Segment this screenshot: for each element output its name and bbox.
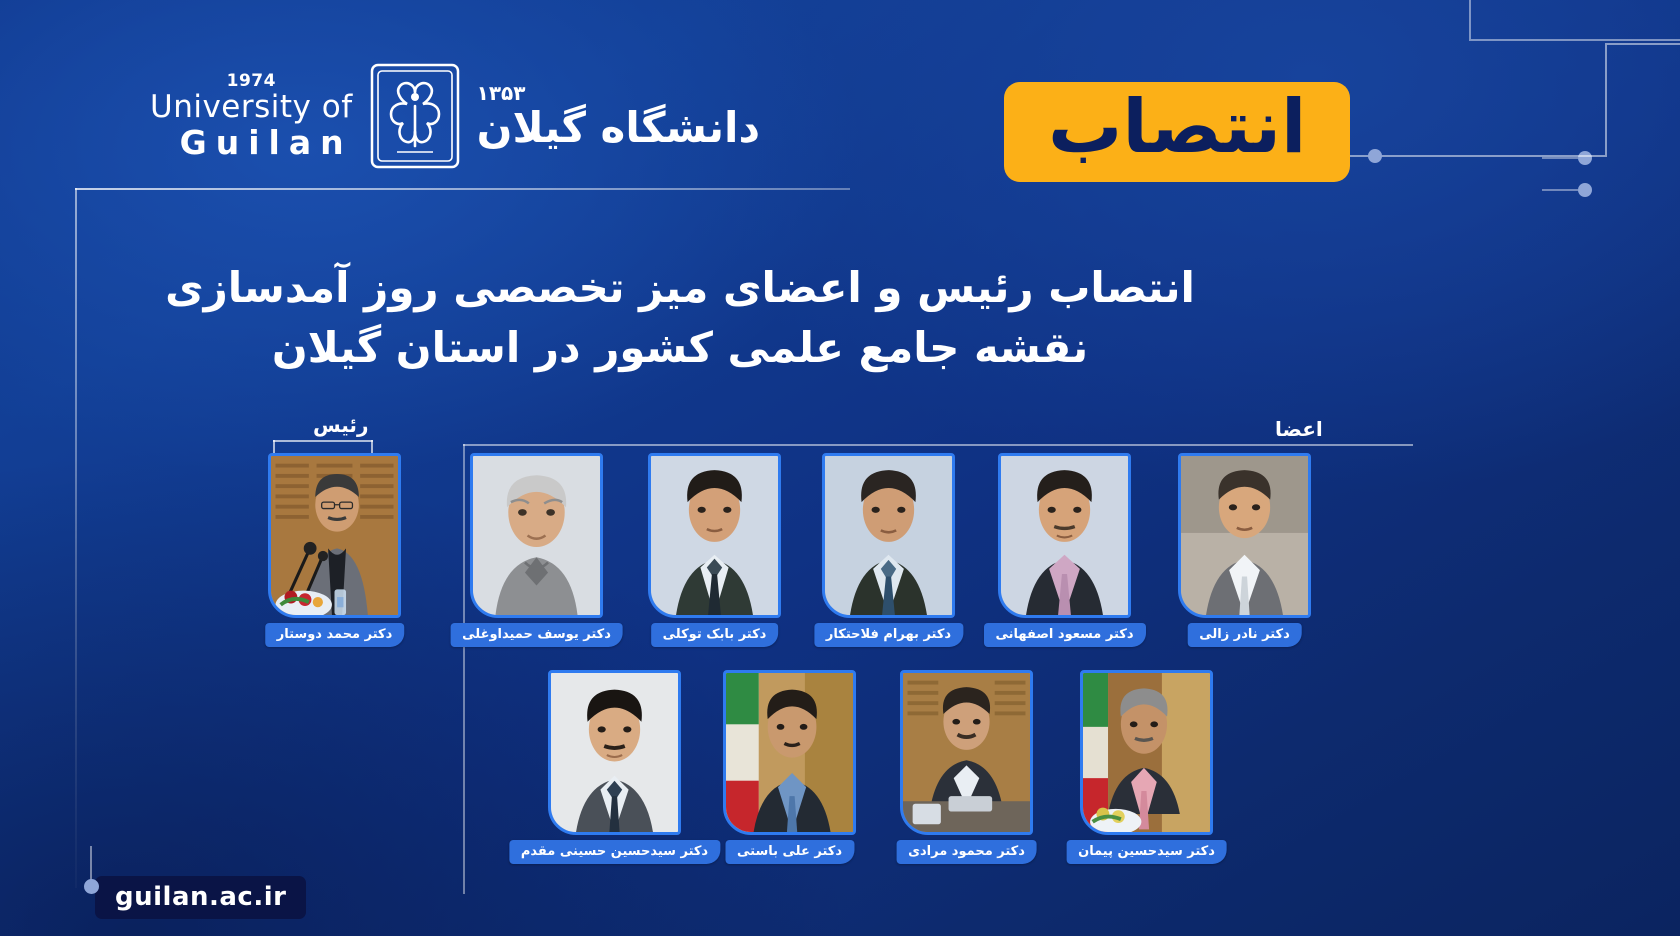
person-name-member-1: دکتر یوسف حمیداوغلی — [450, 623, 623, 647]
person-card-member-4[interactable]: دکتر مسعود اصفهانی — [998, 453, 1131, 618]
members-bracket-vertical — [463, 444, 465, 894]
guilan-university-emblem-icon — [369, 62, 461, 170]
person-photo — [1178, 453, 1311, 618]
person-name-member-7: دکتر علی باستی — [725, 840, 854, 864]
person-card-member-9[interactable]: دکتر سیدحسین پیمان — [1080, 670, 1213, 835]
person-name-member-5: دکتر نادر زالی — [1187, 623, 1302, 647]
person-name-member-4: دکتر مسعود اصفهانی — [984, 623, 1146, 647]
person-photo — [900, 670, 1033, 835]
person-card-member-2[interactable]: دکتر بابک توکلی — [648, 453, 781, 618]
logo-persian-text: ۱۳۵۳ دانشگاه گیلان — [477, 83, 760, 149]
logo-founding-year-fa: ۱۳۵۳ — [477, 83, 760, 103]
person-card-member-5[interactable]: دکتر نادر زالی — [1178, 453, 1311, 618]
logo-founding-year-en: 1974 — [150, 73, 353, 90]
poster-canvas: 1974 University of Guilan ۱۳۵۳ دانشگاه گ… — [0, 0, 1680, 936]
announcement-badge: انتصاب — [1004, 82, 1350, 182]
poster-header: 1974 University of Guilan ۱۳۵۳ دانشگاه گ… — [0, 0, 1680, 205]
page-title-line1: انتصاب رئیس و اعضای میز تخصصی روز آمدساز… — [0, 258, 1360, 318]
chair-bracket — [273, 440, 373, 442]
members-section-heading: اعضا — [1275, 417, 1323, 441]
header-divider — [75, 188, 850, 190]
members-bracket — [463, 444, 1413, 446]
website-badge-dot-icon — [84, 879, 99, 894]
website-url: guilan.ac.ir — [115, 882, 286, 912]
person-card-member-7[interactable]: دکتر علی باستی — [723, 670, 856, 835]
person-name-member-8: دکتر محمود مرادی — [896, 840, 1037, 864]
person-photo — [648, 453, 781, 618]
person-name-member-9: دکتر سیدحسین پیمان — [1066, 840, 1227, 864]
person-photo — [723, 670, 856, 835]
person-card-member-3[interactable]: دکتر بهرام فلاحتکار — [822, 453, 955, 618]
page-title: انتصاب رئیس و اعضای میز تخصصی روز آمدساز… — [0, 258, 1360, 377]
announcement-badge-label: انتصاب — [1048, 90, 1306, 164]
person-name-member-2: دکتر بابک توکلی — [651, 623, 779, 647]
person-photo — [470, 453, 603, 618]
person-card-chair[interactable]: دکتر محمد دوستار — [268, 453, 401, 618]
person-card-member-8[interactable]: دکتر محمود مرادی — [900, 670, 1033, 835]
person-name-chair: دکتر محمد دوستار — [265, 623, 405, 647]
university-logo: 1974 University of Guilan ۱۳۵۳ دانشگاه گ… — [150, 62, 760, 170]
website-badge[interactable]: guilan.ac.ir — [95, 876, 306, 919]
logo-line2-en: Guilan — [150, 126, 353, 159]
person-card-member-1[interactable]: دکتر یوسف حمیداوغلی — [470, 453, 603, 618]
person-photo — [1080, 670, 1213, 835]
page-title-line2: نقشه جامع علمی کشور در استان گیلان — [0, 318, 1360, 378]
person-photo — [998, 453, 1131, 618]
logo-english-text: 1974 University of Guilan — [150, 73, 353, 159]
person-photo — [548, 670, 681, 835]
logo-name-fa: دانشگاه گیلان — [477, 107, 760, 149]
chair-section-heading: رئیس — [313, 413, 368, 437]
person-photo — [822, 453, 955, 618]
website-badge-stem — [90, 846, 92, 880]
person-card-member-6[interactable]: دکتر سیدحسین حسینی مقدم — [548, 670, 681, 835]
logo-line1-en: University of — [150, 92, 353, 123]
person-name-member-6: دکتر سیدحسین حسینی مقدم — [509, 840, 720, 864]
person-name-member-3: دکتر بهرام فلاحتکار — [814, 623, 963, 647]
person-photo — [268, 453, 401, 618]
